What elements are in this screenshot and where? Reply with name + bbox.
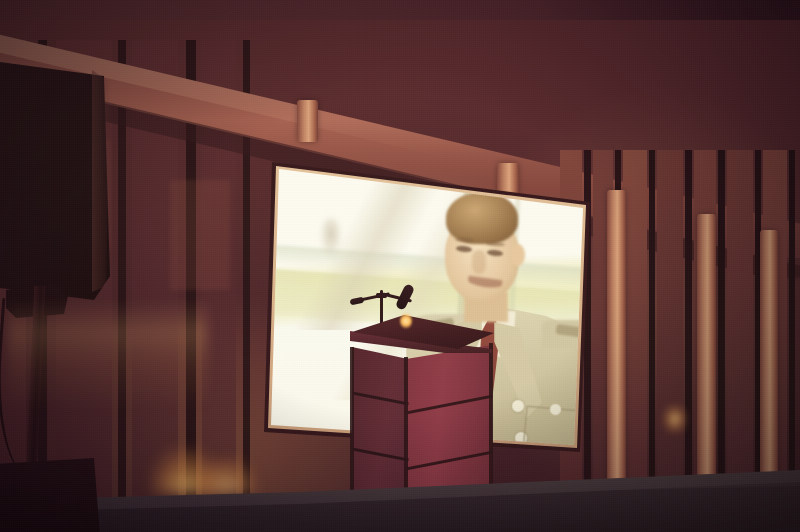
mic-clamp: [376, 293, 387, 298]
wall-inset-panel: [170, 180, 230, 290]
slat-wall-light-spot: [662, 404, 688, 434]
cylinder-column-light: [607, 190, 626, 490]
ear: [511, 244, 525, 266]
lectern-reading-lamp-glow: [400, 313, 412, 329]
wall-slat-gap: [685, 150, 692, 532]
cylinder-column-light: [697, 214, 716, 484]
cylinder-column-light: [760, 230, 778, 480]
slide-blur-object: [320, 218, 342, 258]
cylinder-column-light: [297, 100, 318, 142]
photograph-scene: Auditorium stage with projection screen …: [0, 0, 800, 532]
jacket-button: [512, 400, 524, 412]
wall-slat: [657, 150, 683, 532]
wall-slat: [623, 150, 647, 532]
hair: [446, 192, 518, 244]
equipment-case: [0, 458, 100, 532]
wall-slat-gap: [649, 150, 655, 532]
nose: [472, 250, 486, 274]
floor-uplight-pool: [198, 458, 256, 492]
jacket-pocket-button: [550, 404, 561, 415]
left-wall-light-streak: [8, 300, 208, 410]
lectern-frame-corner: [489, 343, 493, 503]
